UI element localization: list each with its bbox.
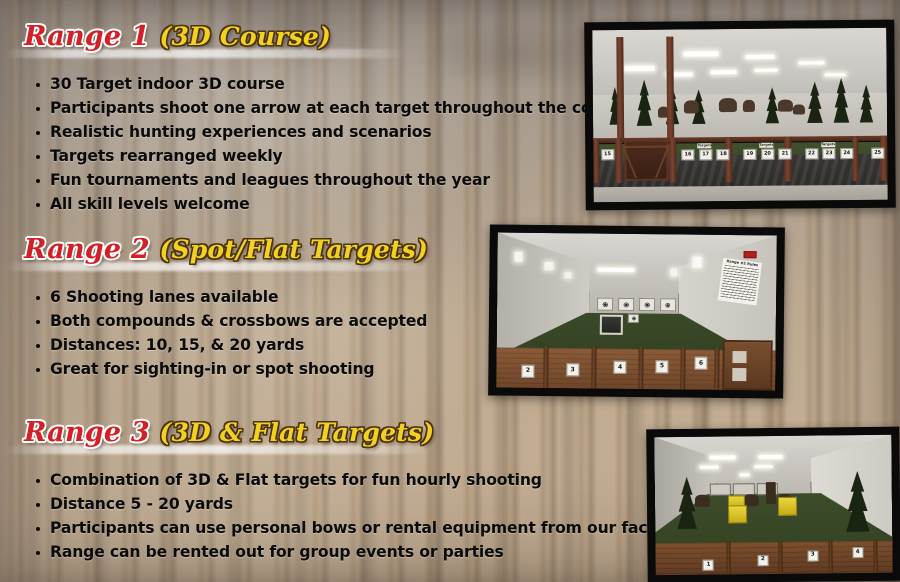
- paper-target: [660, 298, 675, 312]
- exit-sign: [743, 251, 757, 259]
- range-1-title: Range 1 (3D Course): [24, 22, 586, 52]
- range-3-bullet-list: Combination of 3D & Flat targets for fun…: [0, 470, 660, 563]
- paper-target: [597, 297, 612, 311]
- concrete-floor: [594, 184, 888, 202]
- list-item: Realistic hunting experiences and scenar…: [36, 122, 600, 143]
- paper-target: [639, 298, 654, 312]
- list-item: Participants can use personal bows or re…: [36, 518, 660, 539]
- lane-placard: 1: [703, 559, 714, 570]
- range-3-title: Range 3 (3D & Flat Targets): [24, 418, 646, 448]
- block-target: [778, 496, 797, 516]
- range-info-poster: Range 1 (3D Course) 30 Target indoor 3D …: [0, 0, 900, 582]
- support-post: [666, 36, 675, 139]
- lane-placard: 3: [566, 363, 579, 376]
- station-placard: 22: [805, 149, 818, 160]
- list-item: Range can be rented out for group events…: [36, 542, 660, 563]
- list-item: 6 Shooting lanes available: [36, 287, 470, 308]
- ceiling-light: [684, 52, 719, 57]
- ceiling-light: [564, 272, 571, 278]
- ceiling-light: [693, 256, 701, 267]
- ceiling-light: [670, 268, 677, 276]
- lane-divider: [714, 348, 719, 390]
- wooden-gate: [624, 140, 668, 182]
- ceiling-light: [759, 455, 783, 459]
- range-2-title: Range 2 (Spot/Flat Targets): [24, 235, 456, 265]
- range-2-title-main: Range 2: [24, 234, 150, 265]
- animal-target: [684, 100, 699, 114]
- lane-divider: [726, 541, 730, 574]
- animal-target: [766, 482, 776, 504]
- support-post: [616, 37, 625, 140]
- range-1-title-paren: (3D Course): [159, 22, 331, 51]
- ceiling-light: [740, 474, 749, 477]
- range-1-title-main: Range 1: [24, 21, 150, 52]
- lane-divider: [828, 540, 832, 573]
- list-item: Fun tournaments and leagues throughout t…: [36, 170, 600, 191]
- lane-placard: 6: [694, 357, 707, 370]
- photo-range-2-image: Range #2 Rules 2 3 4 5 6: [496, 233, 777, 391]
- section-range-3: Range 3 (3D & Flat Targets) Combination …: [0, 418, 660, 566]
- list-item: 30 Target indoor 3D course: [36, 74, 600, 95]
- targets-label: Targets: [759, 143, 773, 148]
- ceiling-light: [709, 456, 735, 460]
- range-1-title-block: Range 1 (3D Course): [0, 22, 600, 58]
- lane-placard: 5: [655, 360, 668, 373]
- section-range-1: Range 1 (3D Course) 30 Target indoor 3D …: [0, 22, 600, 218]
- station-placard: 15: [601, 149, 614, 160]
- animal-target: [743, 99, 755, 111]
- range-1-bullet-list: 30 Target indoor 3D course Participants …: [0, 74, 600, 214]
- lane-placard: 2: [757, 555, 768, 566]
- list-item: Distances: 10, 15, & 20 yards: [36, 335, 470, 356]
- paper-target: [618, 297, 633, 311]
- station-placard: 18: [717, 149, 730, 160]
- station-placard: 24: [840, 148, 853, 159]
- lane-placard: 4: [614, 361, 627, 374]
- photo-range-1-image: 15 16 17 18 19 20 21 22 23 24 25 Targets…: [592, 28, 887, 203]
- ceiling-light: [710, 70, 736, 74]
- station-placard: 20: [761, 149, 774, 160]
- lane-divider: [591, 347, 596, 389]
- lane-divider: [779, 541, 783, 574]
- paper-target: [628, 314, 639, 323]
- ceiling-light: [825, 73, 846, 76]
- animal-target: [778, 99, 793, 111]
- range-2-bullet-list: 6 Shooting lanes available Both compound…: [0, 287, 470, 380]
- targets-label: Targets: [698, 144, 712, 149]
- photo-range-3: 1 2 3 4: [646, 427, 900, 582]
- range-rules-sign: Range #2 Rules: [718, 257, 762, 305]
- list-item: Combination of 3D & Flat targets for fun…: [36, 470, 660, 491]
- ceiling-light: [700, 466, 719, 469]
- lane-divider: [544, 346, 549, 388]
- lane-placard: 3: [807, 550, 818, 561]
- list-item: Participants shoot one arrow at each tar…: [36, 98, 600, 119]
- list-item: Both compounds & crossbows are accepted: [36, 311, 470, 332]
- animal-target: [793, 104, 805, 114]
- ceiling-light: [754, 68, 778, 72]
- section-range-2: Range 2 (Spot/Flat Targets) 6 Shooting l…: [0, 235, 470, 383]
- photo-range-1: 15 16 17 18 19 20 21 22 23 24 25 Targets…: [584, 20, 896, 211]
- lane-divider: [680, 348, 685, 390]
- lane-placard: 4: [852, 547, 863, 558]
- list-item: Distance 5 - 20 yards: [36, 494, 660, 515]
- photo-range-3-image: 1 2 3 4: [654, 435, 892, 575]
- station-placard: 19: [743, 149, 756, 160]
- station-placard: 23: [823, 149, 836, 160]
- flat-target: [709, 483, 730, 496]
- station-placard: 16: [681, 150, 694, 161]
- station-placard: 25: [871, 148, 884, 159]
- ceiling-light: [754, 465, 773, 468]
- station-placard: 21: [779, 149, 792, 160]
- ceiling-light: [745, 54, 774, 58]
- station-placard: 17: [699, 150, 712, 161]
- animal-target: [695, 495, 709, 508]
- ceiling-light: [514, 251, 522, 262]
- list-item: All skill levels welcome: [36, 194, 600, 215]
- range-3-title-main: Range 3: [24, 417, 150, 448]
- range-3-title-block: Range 3 (3D & Flat Targets): [0, 418, 660, 454]
- lane-placard: 2: [521, 365, 534, 378]
- barrier-post: [670, 138, 677, 183]
- ceiling-light: [625, 66, 654, 71]
- block-target: [600, 314, 623, 334]
- list-item: Targets rearranged weekly: [36, 146, 600, 167]
- targets-label: Targets: [821, 143, 835, 148]
- lane-divider: [873, 540, 877, 573]
- lane-divider: [638, 347, 643, 389]
- animal-target: [719, 98, 737, 112]
- ceiling-light: [545, 262, 553, 270]
- range-2-title-block: Range 2 (Spot/Flat Targets): [0, 235, 470, 271]
- block-target: [728, 505, 747, 523]
- wooden-gate: [722, 340, 773, 390]
- barrier-post: [593, 139, 599, 184]
- ceiling-light: [598, 268, 634, 272]
- range-3-title-paren: (3D & Flat Targets): [159, 418, 434, 447]
- photo-range-2: Range #2 Rules 2 3 4 5 6: [488, 224, 785, 398]
- range-2-title-paren: (Spot/Flat Targets): [159, 235, 428, 264]
- range-rules-text-lines: [720, 264, 759, 301]
- list-item: Great for sighting-in or spot shooting: [36, 359, 470, 380]
